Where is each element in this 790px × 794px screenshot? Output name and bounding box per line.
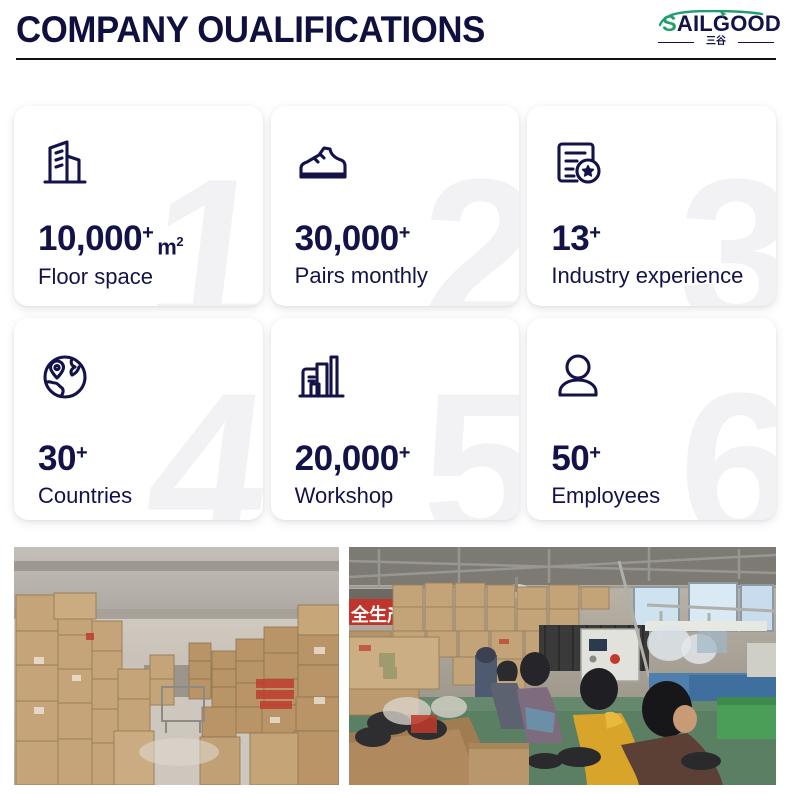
photo-gallery: 全生产	[14, 547, 776, 785]
page-title: COMPANY OUALIFICATIONS	[16, 8, 485, 52]
person-user-icon	[551, 350, 605, 404]
stat-unit: m2	[157, 230, 183, 259]
stat-plus: +	[589, 443, 600, 463]
stat-value: 30+	[38, 440, 263, 478]
stat-label: Workshop	[295, 482, 520, 510]
stat-label: Countries	[38, 482, 263, 510]
stat-number: 30	[38, 440, 76, 478]
certificate-star-icon	[551, 136, 605, 190]
title-divider	[16, 58, 776, 60]
logo-rule-right	[738, 42, 774, 43]
logo-wordmark-rest: AILGOOD	[677, 11, 781, 36]
stat-card-employees[interactable]: 6 50+ Employees	[527, 318, 776, 520]
svg-text:生: 生	[369, 604, 387, 626]
stat-number: 30,000	[295, 220, 399, 258]
stat-card-pairs-monthly[interactable]: 2 30,000+ Pairs monthly	[271, 106, 520, 306]
stat-card-workshop[interactable]: 5 20,000+ Workshop	[271, 318, 520, 520]
stat-label: Pairs monthly	[295, 262, 520, 290]
stat-plus: +	[589, 223, 600, 243]
stat-value: 50+	[551, 440, 776, 478]
stat-card-grid: 1 10,000+m2 Floor space	[14, 106, 776, 520]
stat-plus: +	[399, 443, 410, 463]
sailgood-logo: SAILGOOD 三谷	[656, 10, 776, 52]
stat-card-countries[interactable]: 4 30+ Countries	[14, 318, 263, 520]
stat-label: Industry experience	[551, 262, 776, 290]
svg-text:全: 全	[350, 604, 370, 626]
sneaker-shoe-icon	[295, 136, 349, 190]
stat-plus: +	[142, 223, 153, 243]
stat-value: 30,000+	[295, 220, 520, 258]
stat-plus: +	[399, 223, 410, 243]
stat-plus: +	[76, 443, 87, 463]
stat-label: Employees	[551, 482, 776, 510]
factory-icon	[295, 350, 349, 404]
stat-label: Floor space	[38, 263, 263, 291]
office-building-icon	[38, 136, 92, 190]
stat-number: 13	[551, 220, 589, 258]
stat-number: 10,000	[38, 220, 142, 258]
stat-value: 13+	[551, 220, 776, 258]
warehouse-photo	[14, 547, 339, 785]
stat-unit-exponent: 2	[176, 234, 183, 249]
globe-location-icon	[38, 350, 92, 404]
factory-photo: 全生产	[349, 547, 776, 785]
company-qualifications-page: COMPANY OUALIFICATIONS SAILGOOD 三谷 1	[0, 0, 790, 794]
stat-card-floor-space[interactable]: 1 10,000+m2 Floor space	[14, 106, 263, 306]
stat-card-industry-experience[interactable]: 3 13+ Industry experience	[527, 106, 776, 306]
stat-value: 20,000+	[295, 440, 520, 478]
logo-rule-left	[658, 42, 694, 43]
stat-value: 10,000+m2	[38, 220, 263, 259]
stat-number: 50	[551, 440, 589, 478]
page-header: COMPANY OUALIFICATIONS SAILGOOD 三谷	[0, 0, 790, 62]
stat-number: 20,000	[295, 440, 399, 478]
logo-initial-s: S	[662, 11, 677, 36]
logo-wordmark: SAILGOOD	[662, 12, 781, 36]
